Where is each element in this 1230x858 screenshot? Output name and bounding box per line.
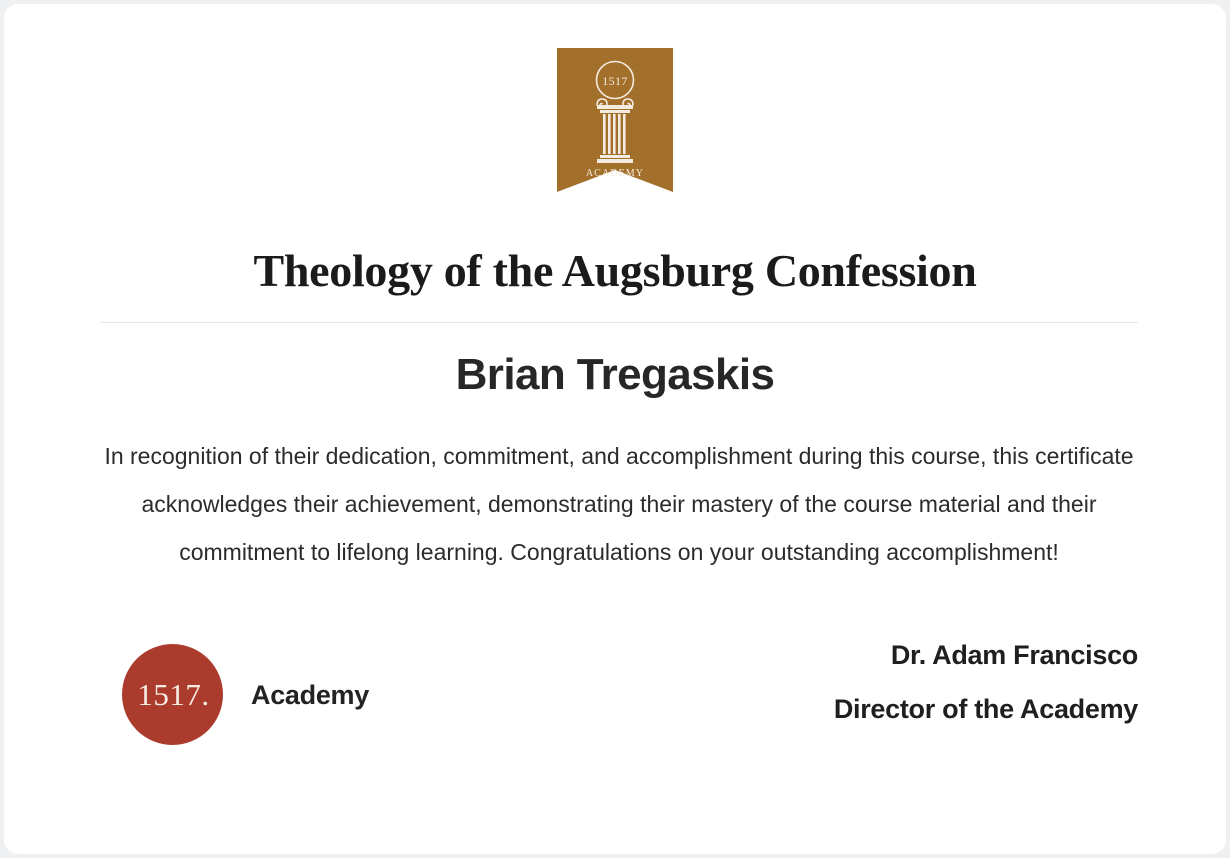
emblem-container: 1517 ACADEMY — [4, 48, 1226, 192]
academy-seal-icon: 1517. — [122, 644, 223, 745]
certificate-card: 1517 ACADEMY Theology of the Augsburg Co… — [4, 4, 1226, 854]
academy-wordmark: Academy — [251, 679, 369, 711]
academy-ribbon-logo: 1517 ACADEMY — [557, 48, 673, 192]
signer-name: Dr. Adam Francisco — [834, 628, 1138, 682]
certificate-footer: 1517. Academy Dr. Adam Francisco Directo… — [100, 628, 1138, 748]
citation-paragraph: In recognition of their dedication, comm… — [100, 432, 1138, 576]
course-title: Theology of the Augsburg Confession — [4, 240, 1226, 302]
title-divider — [100, 322, 1138, 323]
ribbon-banner-icon: 1517 ACADEMY — [557, 48, 673, 192]
recipient-name: Brian Tregaskis — [4, 348, 1226, 402]
svg-text:1517: 1517 — [602, 74, 628, 88]
signature-block: Dr. Adam Francisco Director of the Acade… — [834, 628, 1138, 736]
svg-text:ACADEMY: ACADEMY — [586, 168, 644, 179]
signer-title: Director of the Academy — [834, 682, 1138, 736]
seal-year-label: 1517. — [135, 679, 209, 710]
academy-seal-group: 1517. Academy — [122, 644, 369, 745]
